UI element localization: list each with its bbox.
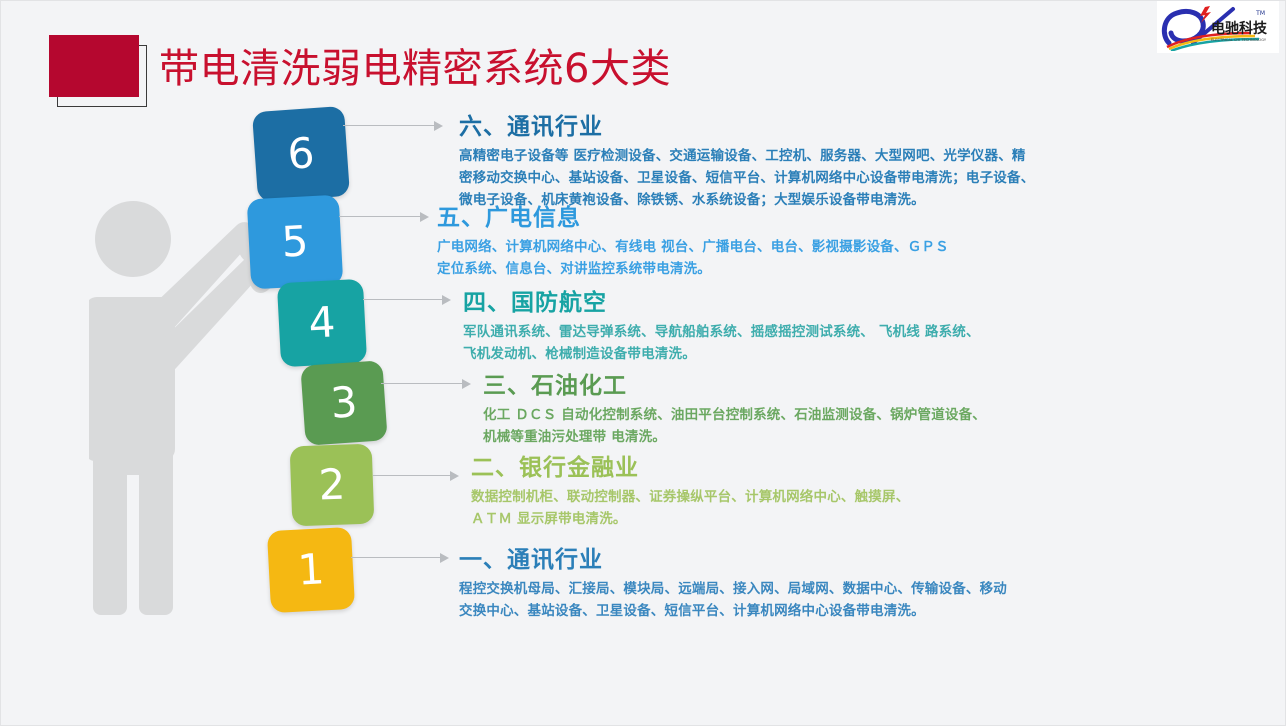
arrow-to-section-6 [343, 121, 443, 131]
number-block-5[interactable]: 5 [247, 195, 344, 290]
page-title: 带电清洗弱电精密系统6大类 [159, 43, 671, 95]
section-3: 三、石油化工 化工 ＤＣＳ 自动化控制系统、油田平台控制系统、石油监测设备、锅炉… [483, 372, 986, 448]
section-4-line-1: 军队通讯系统、雷达导弹系统、导航船舶系统、摇感摇控测试系统、 飞机线 路系统、 [463, 321, 980, 343]
section-5-line-2: 定位系统、信息台、对讲监控系统带电清洗。 [437, 258, 949, 280]
logo-tm-mark: TM [1256, 10, 1265, 17]
arrow-shaft [381, 383, 462, 384]
section-6-line-2: 密移动交换中心、基站设备、卫星设备、短信平台、计算机网络中心设备带电清洗；电子设… [459, 167, 1034, 189]
title-red-square [49, 35, 139, 97]
section-6-body: 高精密电子设备等 医疗检测设备、交通运输设备、工控机、服务器、大型网吧、光学仪器… [459, 145, 1034, 211]
block-number-6: 6 [286, 128, 316, 179]
arrow-head [450, 471, 459, 481]
arrow-shaft [373, 475, 450, 476]
section-3-heading: 三、石油化工 [483, 372, 986, 400]
section-5-body: 广电网络、计算机网络中心、有线电 视台、广播电台、电台、影视摄影设备、ＧＰＳ 定… [437, 236, 949, 280]
number-block-4[interactable]: 4 [277, 279, 367, 367]
section-3-body: 化工 ＤＣＳ 自动化控制系统、油田平台控制系统、石油监测设备、锅炉管道设备、 机… [483, 404, 986, 448]
company-logo: 电驰科技 ELECTRICAL CHI TECHNOLOGY TM [1157, 1, 1279, 53]
section-2-line-2: ＡＴＭ 显示屏带电清洗。 [471, 508, 909, 530]
logo-tagline-text: ELECTRICAL CHI TECHNOLOGY [1211, 38, 1267, 42]
section-6-line-1: 高精密电子设备等 医疗检测设备、交通运输设备、工控机、服务器、大型网吧、光学仪器… [459, 145, 1034, 167]
section-5: 五、广电信息 广电网络、计算机网络中心、有线电 视台、广播电台、电台、影视摄影设… [437, 204, 949, 280]
section-1-line-2: 交换中心、基站设备、卫星设备、短信平台、计算机网络中心设备带电清洗。 [459, 600, 1007, 622]
arrow-to-section-4 [363, 295, 451, 305]
arrow-to-section-1 [351, 553, 449, 563]
number-block-2[interactable]: 2 [290, 444, 375, 527]
section-5-line-1: 广电网络、计算机网络中心、有线电 视台、广播电台、电台、影视摄影设备、ＧＰＳ [437, 236, 949, 258]
section-2-line-1: 数据控制机柜、联动控制器、证券操纵平台、计算机网络中心、触摸屏、 [471, 486, 909, 508]
arrow-shaft [343, 125, 434, 126]
section-2: 二、银行金融业 数据控制机柜、联动控制器、证券操纵平台、计算机网络中心、触摸屏、… [471, 454, 909, 530]
number-block-1[interactable]: 1 [267, 527, 355, 613]
arrow-to-section-3 [381, 379, 471, 389]
number-block-3[interactable]: 3 [300, 360, 387, 446]
arrow-head [462, 379, 471, 389]
section-5-heading: 五、广电信息 [437, 204, 949, 232]
logo-name-text: 电驰科技 [1211, 20, 1268, 37]
arrow-shaft [339, 216, 420, 217]
section-1: 一、通讯行业 程控交换机母局、汇接局、模块局、远端局、接入网、局域网、数据中心、… [459, 546, 1007, 622]
section-4-line-2: 飞机发动机、枪械制造设备带电清洗。 [463, 343, 980, 365]
section-3-line-2: 机械等重油污处理带 电清洗。 [483, 426, 986, 448]
block-number-1: 1 [296, 544, 325, 594]
arrow-head [434, 121, 443, 131]
arrow-head [420, 212, 429, 222]
arrow-shaft [363, 299, 442, 300]
block-number-4: 4 [307, 297, 336, 347]
section-6: 六、通讯行业 高精密电子设备等 医疗检测设备、交通运输设备、工控机、服务器、大型… [459, 113, 1034, 211]
section-1-body: 程控交换机母局、汇接局、模块局、远端局、接入网、局域网、数据中心、传输设备、移动… [459, 578, 1007, 622]
section-4-body: 军队通讯系统、雷达导弹系统、导航船舶系统、摇感摇控测试系统、 飞机线 路系统、 … [463, 321, 980, 365]
slide-canvas: 电驰科技 ELECTRICAL CHI TECHNOLOGY TM 带电清洗弱电… [0, 0, 1286, 726]
arrow-to-section-2 [373, 471, 459, 481]
arrow-to-section-5 [339, 212, 429, 222]
block-number-5: 5 [280, 216, 309, 266]
section-1-line-1: 程控交换机母局、汇接局、模块局、远端局、接入网、局域网、数据中心、传输设备、移动 [459, 578, 1007, 600]
block-number-3: 3 [329, 377, 359, 428]
section-4-heading: 四、国防航空 [463, 289, 980, 317]
number-block-6[interactable]: 6 [252, 106, 350, 202]
arrow-head [442, 295, 451, 305]
section-3-line-1: 化工 ＤＣＳ 自动化控制系统、油田平台控制系统、石油监测设备、锅炉管道设备、 [483, 404, 986, 426]
section-6-heading: 六、通讯行业 [459, 113, 1034, 141]
block-number-2: 2 [318, 459, 346, 509]
section-2-heading: 二、银行金融业 [471, 454, 909, 482]
section-4: 四、国防航空 军队通讯系统、雷达导弹系统、导航船舶系统、摇感摇控测试系统、 飞机… [463, 289, 980, 365]
arrow-head [440, 553, 449, 563]
section-1-heading: 一、通讯行业 [459, 546, 1007, 574]
section-2-body: 数据控制机柜、联动控制器、证券操纵平台、计算机网络中心、触摸屏、 ＡＴＭ 显示屏… [471, 486, 909, 530]
arrow-shaft [351, 557, 440, 558]
